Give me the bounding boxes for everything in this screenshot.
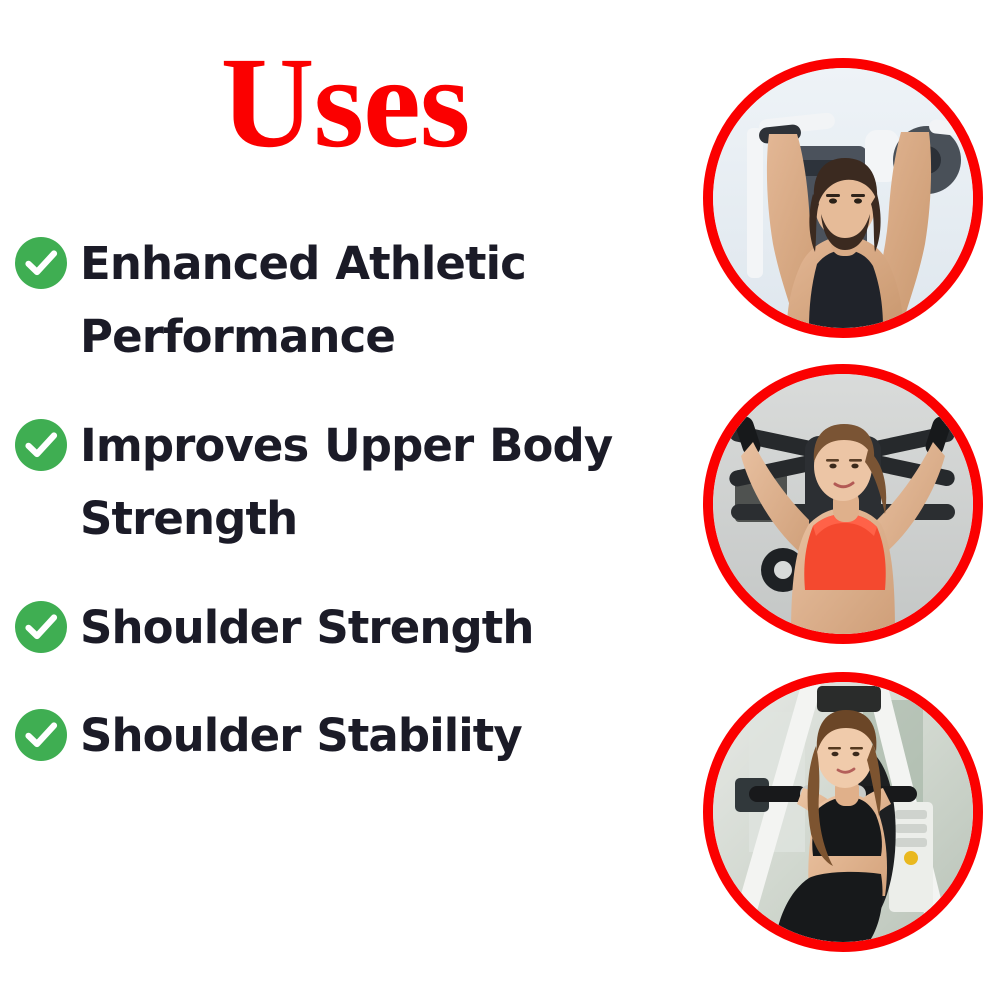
list-item: Enhanced Athletic Performance: [14, 228, 674, 374]
list-item: Improves Upper Body Strength: [14, 410, 674, 556]
benefit-label: Shoulder Stability: [80, 700, 674, 773]
list-item: Shoulder Strength: [14, 592, 674, 665]
benefit-label: Improves Upper Body Strength: [80, 410, 674, 556]
page-title: Uses: [0, 38, 690, 168]
photo-image: [713, 374, 973, 634]
photo-chest-press-woman-black: [703, 672, 983, 952]
uses-infographic-poster: Uses Enhanced Athletic Performance Impro…: [0, 0, 1000, 1000]
photo-image: [713, 682, 973, 942]
check-circle-icon: [14, 600, 68, 654]
photo-chest-fly-woman-orange: [703, 364, 983, 644]
benefit-label: Shoulder Strength: [80, 592, 674, 665]
check-circle-icon: [14, 708, 68, 762]
list-item: Shoulder Stability: [14, 700, 674, 773]
photo-image: [713, 68, 973, 328]
benefits-list: Enhanced Athletic Performance Improves U…: [14, 228, 674, 773]
benefit-label: Enhanced Athletic Performance: [80, 228, 674, 374]
photo-shoulder-press-man: [703, 58, 983, 338]
check-circle-icon: [14, 236, 68, 290]
check-circle-icon: [14, 418, 68, 472]
